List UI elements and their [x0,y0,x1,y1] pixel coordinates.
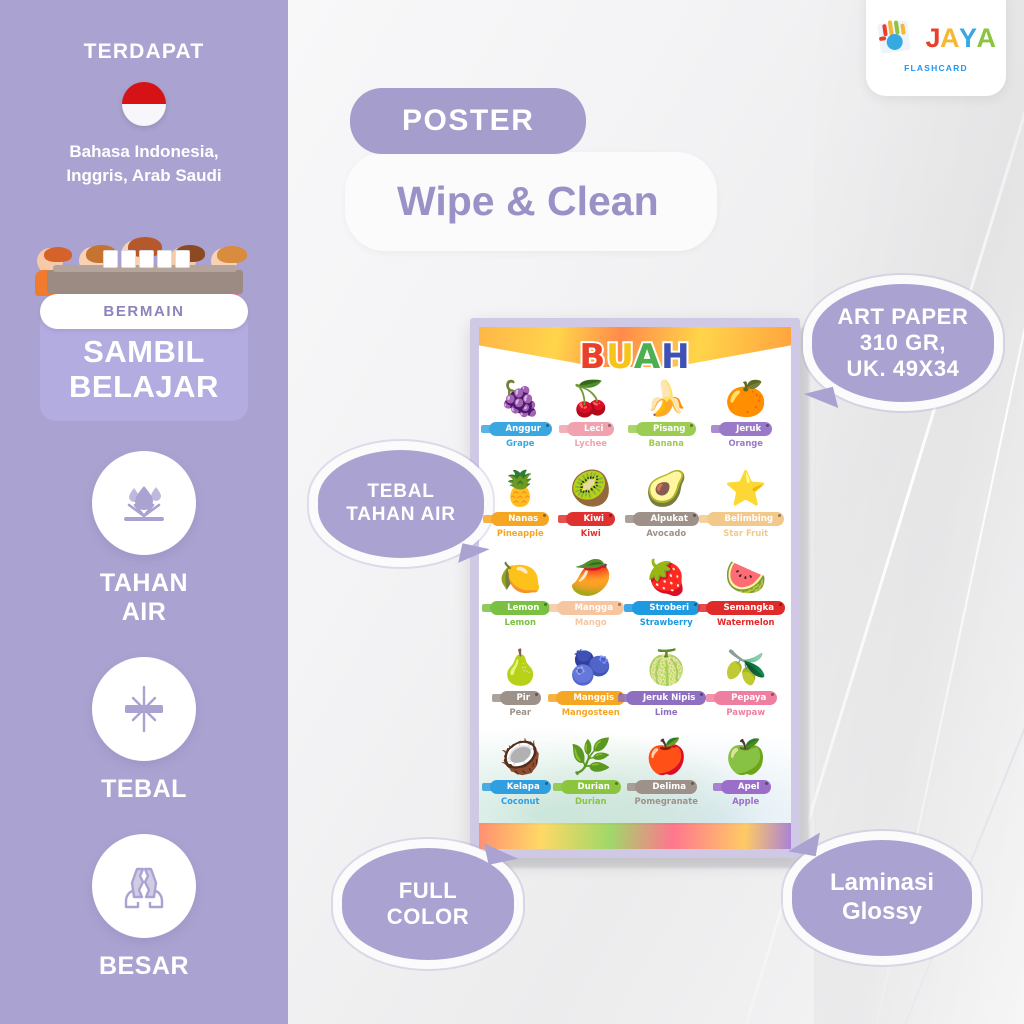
fruit-cell: 🍋LemonLemon [485,554,555,644]
fruit-cell: 🍒LeciLychee [555,375,626,465]
fruit-cell: 🍎DelimaPomegranate [626,733,706,823]
poster-title: BUAH [479,337,791,377]
fruit-cell: 🌿DurianDurian [555,733,626,823]
feature-label: TAHAN AIR [0,569,288,627]
fruit-cell: 🥑AlpukatAvocado [626,465,706,555]
fruit-cell: 🍇AnggurGrape [485,375,555,465]
poster-badge: POSTER [350,88,586,154]
fruit-cell: 🍌PisangBanana [626,375,706,465]
fruit-label-id: Manggis [556,691,625,705]
poster-artwork: BUAH 🍇AnggurGrape🍒LeciLychee🍌PisangBanan… [479,327,791,849]
fruit-label-en: Orange [728,438,763,448]
delima-image: 🍎 [642,736,690,778]
fruit-label-id: Pepaya [714,691,777,705]
feature-tebal: TEBAL [0,657,288,804]
fruit-label-id: Anggur [489,422,552,436]
bermain-pill: BERMAIN [40,294,248,329]
leci-image: 🍒 [567,378,615,420]
fruit-label-en: Mango [575,617,607,627]
fruit-cell: 🍊JerukOrange [706,375,785,465]
feature-label: TEBAL [0,775,288,804]
fruit-label-en: Kiwi [581,528,601,538]
thickness-icon [92,657,196,761]
fruit-cell: 🥥KelapaCoconut [485,733,555,823]
fruit-cell: 🫐ManggisMangosteen [555,644,626,734]
kelapa-image: 🥥 [496,736,544,778]
callout-art-paper: ART PAPER 310 GR, UK. 49X34 [812,284,994,402]
semangka-image: 🍉 [722,557,770,599]
fruit-label-en: Star Fruit [723,528,768,538]
fruit-label-en: Apple [732,796,759,806]
manggis-image: 🫐 [567,647,615,689]
fruit-label-id: Kelapa [490,780,551,794]
callout-tail [788,828,820,856]
jeruk-nipis-image: 🍈 [642,647,690,689]
feature-sidebar: TERDAPAT Bahasa Indonesia, Inggris, Arab… [0,0,288,1024]
fruit-label-id: Apel [721,780,771,794]
anggur-image: 🍇 [496,378,544,420]
fruit-label-en: Watermelon [717,617,774,627]
large-size-icon [92,834,196,938]
fruit-label-id: Kiwi [566,512,615,526]
lemon-image: 🍋 [496,557,544,599]
fruit-label-en: Pawpaw [726,707,765,717]
stroberi-image: 🍓 [642,557,690,599]
poster-frame: BUAH 🍇AnggurGrape🍒LeciLychee🍌PisangBanan… [470,318,800,858]
fruit-label-id: Delima [635,780,697,794]
fruit-label-en: Grape [506,438,534,448]
fruit-label-id: Jeruk Nipis [626,691,706,705]
kiwi-image: 🥝 [567,468,615,510]
apel-image: 🍏 [722,736,770,778]
fruit-label-id: Alpukat [633,512,699,526]
pisang-image: 🍌 [642,378,690,420]
fruit-label-id: Stroberi [632,601,700,615]
fruit-label-en: Mangosteen [562,707,620,717]
pir-image: 🍐 [496,647,544,689]
mangga-image: 🥭 [567,557,615,599]
fruit-label-en: Coconut [501,796,540,806]
callout-glossy-lamination: Laminasi Glossy [792,840,972,956]
fruit-cell: 🥝KiwiKiwi [555,465,626,555]
fruit-label-en: Pineapple [497,528,544,538]
fruit-cell: 🍓StroberiStrawberry [626,554,706,644]
fruit-label-en: Lemon [505,617,536,627]
callout-text: FULL COLOR [387,878,469,931]
fruit-label-en: Pomegranate [635,796,698,806]
fruit-label-id: Mangga [557,601,624,615]
nanas-image: 🍍 [496,468,544,510]
durian-image: 🌿 [567,736,615,778]
fruit-label-id: Durian [561,780,621,794]
fruit-label-id: Nanas [491,512,549,526]
fruit-label-id: Belimbing [707,512,784,526]
belimbing-image: ⭐ [722,468,770,510]
fruit-label-id: Lemon [490,601,550,615]
fruit-label-en: Lychee [574,438,607,448]
alpukat-image: 🥑 [642,468,690,510]
fruit-cell: 🍉SemangkaWatermelon [706,554,785,644]
fruit-cell: 🫒PepayaPawpaw [706,644,785,734]
fruit-cell: 🍍NanasPineapple [485,465,555,555]
fruit-cell: 🍐PirPear [485,644,555,734]
fruit-label-id: Semangka [706,601,785,615]
callout-full-color: FULL COLOR [342,848,514,960]
fruit-cell: ⭐BelimbingStar Fruit [706,465,785,555]
fruit-label-id: Pisang [636,422,696,436]
callout-thick-waterproof: TEBAL TAHAN AIR [318,450,484,558]
brand-logo: JAYA FLASHCARD [866,0,1006,96]
feature-besar: BESAR [0,834,288,981]
fruit-label-id: Jeruk [719,422,772,436]
sidebar-title: TERDAPAT [0,40,288,64]
pepaya-image: 🫒 [722,647,770,689]
fruit-grid: 🍇AnggurGrape🍒LeciLychee🍌PisangBanana🍊Jer… [479,373,791,823]
fruit-label-en: Avocado [646,528,686,538]
fruit-label-en: Durian [575,796,607,806]
fruit-label-id: Pir [500,691,541,705]
callout-text: Laminasi Glossy [830,869,934,927]
product-listing-image: TERDAPAT Bahasa Indonesia, Inggris, Arab… [0,0,1024,1024]
fruit-cell: 🍏ApelApple [706,733,785,823]
callout-text: TEBAL TAHAN AIR [346,481,456,527]
fruit-cell: 🍈Jeruk NipisLime [626,644,706,734]
page-title: Wipe & Clean [345,152,717,251]
languages-text: Bahasa Indonesia, Inggris, Arab Saudi [0,140,288,188]
fruit-label-id: Leci [567,422,614,436]
callout-text: ART PAPER 310 GR, UK. 49X34 [838,304,969,381]
feature-label: BESAR [0,952,288,981]
logo-wordmark: JAYA [925,25,995,52]
fruit-label-en: Strawberry [640,617,693,627]
logo-tagline: FLASHCARD [876,63,995,73]
feature-tahan-air: TAHAN AIR [0,451,288,627]
handprint-logo-icon [876,16,920,61]
fruit-label-en: Pear [509,707,531,717]
fruit-label-en: Lime [655,707,678,717]
jeruk-image: 🍊 [722,378,770,420]
kids-illustration-icon [29,202,259,294]
waterproof-icon [92,451,196,555]
fruit-cell: 🥭ManggaMango [555,554,626,644]
poster-bottom-decoration [479,823,791,849]
indonesia-flag-icon [122,82,166,126]
fruit-label-en: Banana [649,438,684,448]
